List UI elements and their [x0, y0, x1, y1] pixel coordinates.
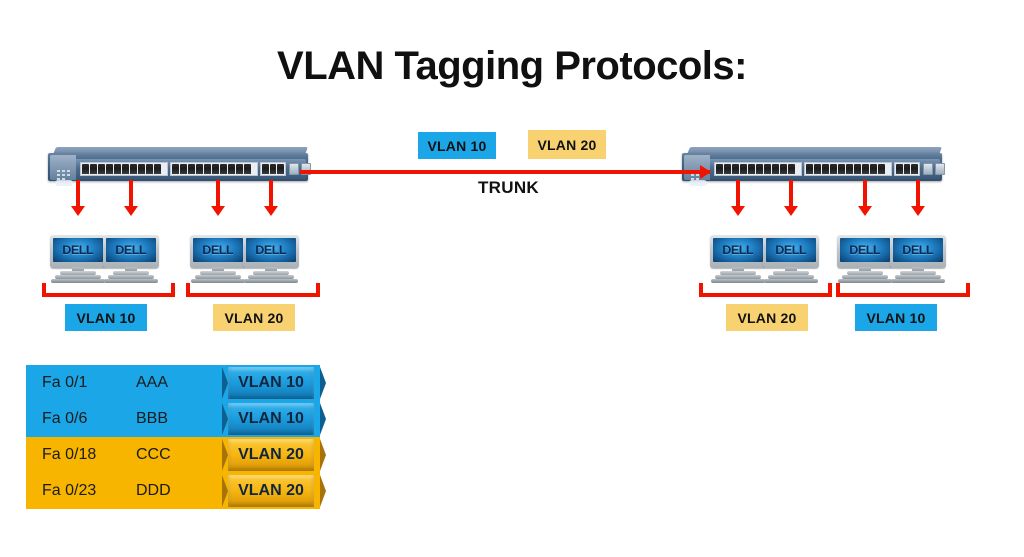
- switch-uplink-port-2: [935, 163, 945, 175]
- table-cell-port: Fa 0/1: [42, 365, 87, 401]
- left-host-2: DELL: [103, 235, 159, 283]
- right-host-3: DELL: [837, 235, 893, 283]
- table-cell-name: AAA: [136, 365, 168, 401]
- left-group-tag-2: VLAN 20: [213, 304, 295, 331]
- table-cell-vlan-badge: VLAN 20: [222, 475, 320, 507]
- trunk-link-arrowhead: [700, 165, 711, 179]
- dell-logo: DELL: [63, 243, 94, 257]
- table-cell-port: Fa 0/23: [42, 473, 96, 509]
- monitor-screen: DELL: [893, 238, 943, 262]
- table-cell-vlan-badge: VLAN 10: [222, 403, 320, 435]
- right-group-bracket-2: [836, 283, 970, 297]
- switch-port-block-1: [714, 162, 802, 176]
- page-title: VLAN Tagging Protocols:: [0, 44, 1024, 89]
- switch-led-array: [56, 169, 72, 177]
- trunk-link-line: [300, 170, 710, 174]
- right-host-4: DELL: [890, 235, 946, 283]
- right-group-tag-2: VLAN 10: [855, 304, 937, 331]
- table-cell-name: DDD: [136, 473, 171, 509]
- monitor-screen: DELL: [766, 238, 816, 262]
- switch-port-block-3: [894, 162, 920, 176]
- switch-logo-badge: [689, 180, 707, 186]
- table-cell-vlan-badge: VLAN 10: [222, 367, 320, 399]
- right-group-tag-2-label: VLAN 10: [867, 310, 926, 326]
- monitor-screen: DELL: [53, 238, 103, 262]
- table-cell-port: Fa 0/6: [42, 401, 87, 437]
- switch-uplink-port-1: [289, 163, 299, 175]
- trunk-tag-vlan-20-label: VLAN 20: [538, 137, 597, 153]
- monitor-screen: DELL: [246, 238, 296, 262]
- dell-logo: DELL: [116, 243, 147, 257]
- dell-logo: DELL: [776, 243, 807, 257]
- left-group-bracket-1: [42, 283, 175, 297]
- right-host-1: DELL: [710, 235, 766, 283]
- table-cell-name: CCC: [136, 437, 171, 473]
- table-cell-vlan-badge: VLAN 20: [222, 439, 320, 471]
- dell-logo: DELL: [850, 243, 881, 257]
- monitor-screen: DELL: [106, 238, 156, 262]
- vlan-assignment-table: Fa 0/1 AAA VLAN 10 Fa 0/6 BBB VLAN 10 Fa…: [26, 365, 320, 509]
- table-cell-port: Fa 0/18: [42, 437, 96, 473]
- table-row: Fa 0/23 DDD VLAN 20: [26, 473, 320, 509]
- left-host-4: DELL: [243, 235, 299, 283]
- right-switch: [682, 145, 942, 187]
- switch-port-block-3: [260, 162, 286, 176]
- trunk-tag-vlan-10-label: VLAN 10: [428, 138, 487, 154]
- table-row: Fa 0/1 AAA VLAN 10: [26, 365, 320, 401]
- left-group-tag-2-label: VLAN 20: [225, 310, 284, 326]
- table-cell-name: BBB: [136, 401, 168, 437]
- left-group-tag-1-label: VLAN 10: [77, 310, 136, 326]
- dell-logo: DELL: [903, 243, 934, 257]
- left-host-1: DELL: [50, 235, 106, 283]
- monitor-screen: DELL: [713, 238, 763, 262]
- left-host-3: DELL: [190, 235, 246, 283]
- dell-logo: DELL: [256, 243, 287, 257]
- monitor-screen: DELL: [840, 238, 890, 262]
- trunk-tag-vlan-10: VLAN 10: [418, 132, 496, 159]
- diagram-canvas: VLAN Tagging Protocols:: [0, 0, 1024, 557]
- switch-logo-badge: [55, 180, 73, 186]
- switch-port-block-1: [80, 162, 168, 176]
- left-group-tag-1: VLAN 10: [65, 304, 147, 331]
- trunk-label: TRUNK: [478, 178, 539, 198]
- table-row: Fa 0/18 CCC VLAN 20: [26, 437, 320, 473]
- left-group-bracket-2: [186, 283, 320, 297]
- dell-logo: DELL: [723, 243, 754, 257]
- monitor-screen: DELL: [193, 238, 243, 262]
- right-group-tag-1-label: VLAN 20: [738, 310, 797, 326]
- switch-status-panel: [50, 155, 76, 180]
- switch-port-block-2: [170, 162, 258, 176]
- dell-logo: DELL: [203, 243, 234, 257]
- right-host-2: DELL: [763, 235, 819, 283]
- right-group-bracket-1: [699, 283, 832, 297]
- switch-port-block-2: [804, 162, 892, 176]
- right-group-tag-1: VLAN 20: [726, 304, 808, 331]
- switch-uplink-port-1: [923, 163, 933, 175]
- trunk-tag-vlan-20: VLAN 20: [528, 130, 606, 159]
- table-row: Fa 0/6 BBB VLAN 10: [26, 401, 320, 437]
